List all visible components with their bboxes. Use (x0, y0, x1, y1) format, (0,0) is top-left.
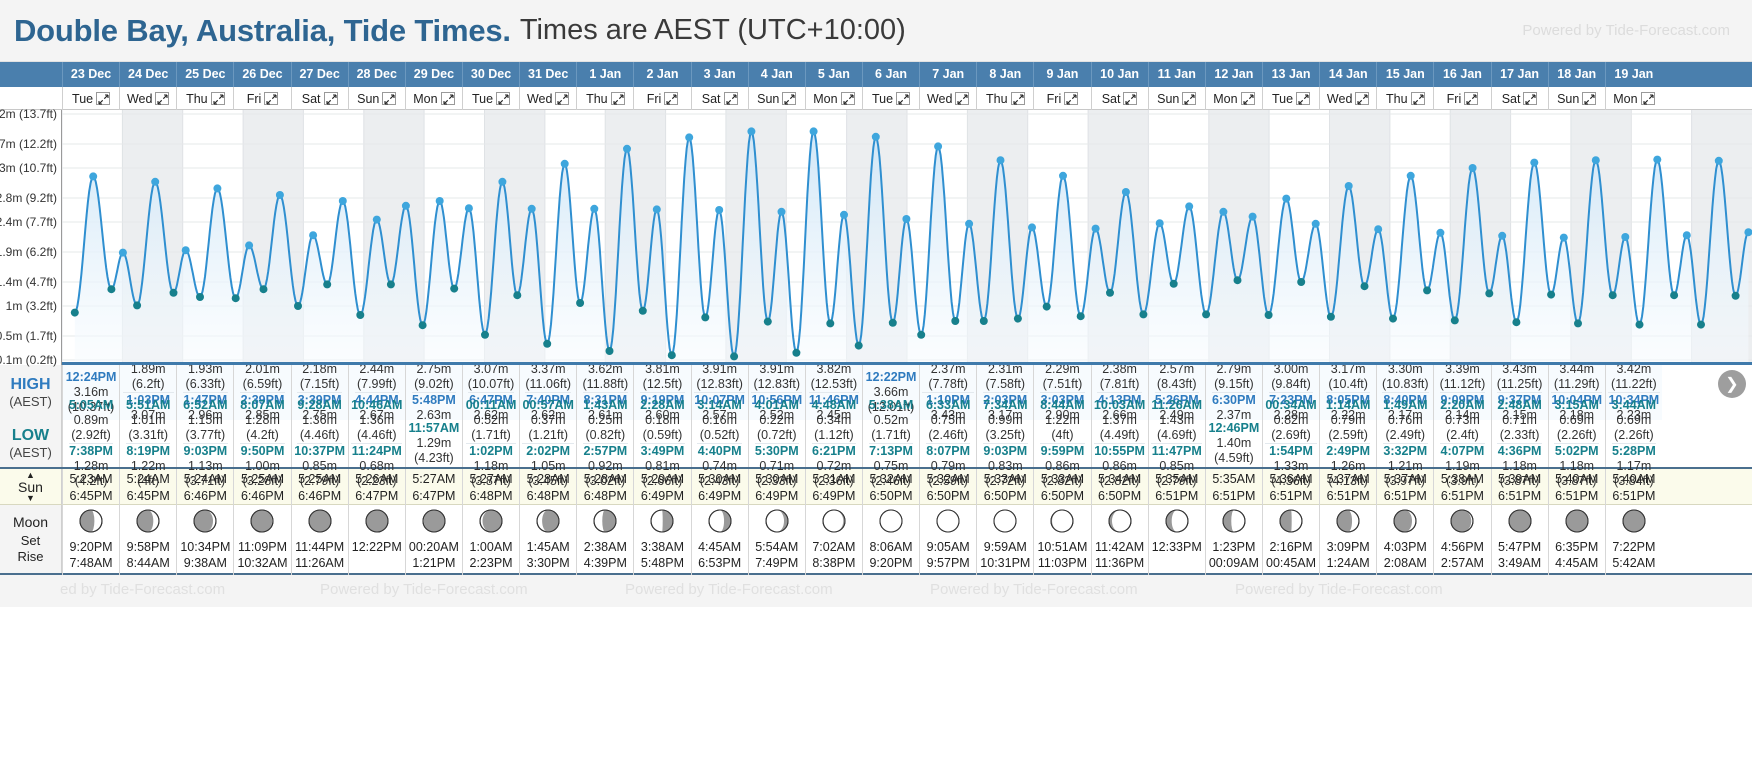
tide-time: 3:32PM (1383, 444, 1427, 459)
weekday-label: Mon (413, 92, 437, 106)
moon-phase-icon (136, 509, 160, 539)
low-tide-entry: 1:43AM0.25m(0.82ft) (583, 398, 627, 444)
moonrise-time: 2:08AM (1384, 555, 1427, 571)
low-tide-entry: 7:34AM0.99m(3.25ft) (983, 398, 1027, 444)
tide-time: 2:02PM (526, 444, 570, 459)
sun-cell: 5:25AM6:46PM (233, 469, 290, 507)
tide-height-metres: 1.36m (297, 413, 341, 428)
footer-watermark: ed by Tide-Forecast.com (60, 581, 225, 598)
low-tide-cell: 2:20AM0.73m(2.4ft)4:07PM1.19m(3.9ft) (1433, 420, 1490, 467)
tide-height-feet: (2.26ft) (1612, 428, 1656, 443)
sunrise-time: 5:33AM (984, 471, 1027, 488)
tide-time: 5:28PM (1612, 444, 1656, 459)
tide-height-feet: (2.46ft) (926, 428, 970, 443)
moon-phase-icon (1565, 509, 1589, 539)
moon-cell: 1:00AM2:23PM (462, 505, 519, 575)
expand-arrows-icon[interactable] (155, 92, 169, 105)
tide-height-feet: (2.33ft) (1497, 428, 1541, 443)
date-header-17-jan[interactable]: 17 Jan (1491, 62, 1548, 87)
date-header-10-jan[interactable]: 10 Jan (1091, 62, 1148, 87)
tide-height-metres: 1.22m (1040, 413, 1084, 428)
date-header-31-dec[interactable]: 31 Dec (519, 62, 576, 87)
date-header-4-jan[interactable]: 4 Jan (748, 62, 805, 87)
low-tide-entry: 8:07AM1.28m(4.2ft) (240, 398, 284, 444)
tide-height-feet: (8.43ft) (1155, 377, 1199, 392)
date-header-26-dec[interactable]: 26 Dec (233, 62, 290, 87)
date-header-16-jan[interactable]: 16 Jan (1433, 62, 1490, 87)
moon-rise-label: Rise (17, 549, 43, 565)
sun-cell: 5:29AM6:49PM (633, 469, 690, 507)
moonrise-time: 2:57AM (1441, 555, 1484, 571)
sun-label-text: Sun (18, 480, 43, 494)
tide-height-metres: 0.99m (983, 413, 1027, 428)
tide-height-feet: (6.59ft) (240, 377, 284, 392)
moonset-time: 12:33PM (1152, 539, 1202, 555)
weekday-cell: Tue (62, 87, 119, 110)
tide-height-feet: (1.21ft) (522, 428, 573, 443)
weekday-cells: TueWedThuFriSatSunMonTueWedThuFriSatSunM… (62, 87, 1752, 109)
tide-time: 10:55PM (1094, 444, 1145, 459)
sunrise-time: 5:34AM (1098, 471, 1141, 488)
low-tide-cell: 1:14AM0.79m(2.59ft)2:49PM1.26m(4.13ft) (1319, 420, 1376, 467)
low-tide-label-text: LOW (12, 427, 49, 445)
tide-time: 5:02PM (1555, 444, 1599, 459)
tide-time: 4:36PM (1498, 444, 1542, 459)
tide-time: 8:44AM (1040, 398, 1084, 413)
date-header-15-jan[interactable]: 15 Jan (1376, 62, 1433, 87)
tide-height-metres: 0.52m (869, 413, 913, 428)
tide-height-feet: (7.81ft) (1097, 377, 1141, 392)
tide-height-feet: (2.59ft) (1326, 428, 1370, 443)
weekday-cell: Thu (1376, 87, 1433, 110)
low-tide-cell: 11:26AM1.43m(4.69ft)11:47PM0.85m(2.79ft) (1148, 420, 1205, 467)
expand-arrows-icon[interactable] (1355, 92, 1369, 105)
moon-cell: 12:33PM (1148, 505, 1205, 575)
moonrise-time: 3:30PM (527, 555, 570, 571)
moon-cell: 3:38AM5:48PM (633, 505, 690, 575)
date-header-3-jan[interactable]: 3 Jan (691, 62, 748, 87)
moonrise-time: 2:23PM (470, 555, 513, 571)
moonset-time: 9:58PM (127, 539, 170, 555)
tide-time: 4:40PM (698, 444, 742, 459)
expand-arrows-icon[interactable] (555, 92, 569, 105)
expand-arrows-icon[interactable] (1411, 92, 1425, 105)
sunset-time: 6:49PM (698, 488, 741, 505)
expand-arrows-icon[interactable] (611, 92, 625, 105)
tide-time: 2:48AM (1497, 398, 1541, 413)
moon-phase-icon (1279, 509, 1303, 539)
date-header-1-jan[interactable]: 1 Jan (576, 62, 633, 87)
moonset-time: 2:16PM (1269, 539, 1312, 555)
expand-arrows-icon[interactable] (1241, 92, 1255, 105)
moon-cell: 9:59AM10:31PM (976, 505, 1033, 575)
expand-arrows-icon[interactable] (1464, 92, 1478, 105)
moon-cell: 3:09PM1:24AM (1319, 505, 1376, 575)
tide-height-feet: (7.58ft) (983, 377, 1027, 392)
moonset-time: 5:54AM (755, 539, 798, 555)
sunrise-time: 5:31AM (812, 471, 855, 488)
date-header-8-jan[interactable]: 8 Jan (976, 62, 1033, 87)
powered-by-watermark: Powered by Tide-Forecast.com (1522, 22, 1730, 39)
date-header-11-jan[interactable]: 11 Jan (1148, 62, 1205, 87)
weekday-cell: Tue (1262, 87, 1319, 110)
low-tide-entry: 2:48AM0.71m(2.33ft) (1497, 398, 1541, 444)
moon-phase-icon (79, 509, 103, 539)
moon-cell: 9:58PM8:44AM (119, 505, 176, 575)
tide-time: 4:48AM (812, 398, 856, 413)
tide-time: 1:02PM (469, 444, 513, 459)
sunset-time: 6:48PM (527, 488, 570, 505)
tide-height-feet: (4.46ft) (351, 428, 402, 443)
moonset-time: 8:06AM (869, 539, 912, 555)
expand-arrows-icon[interactable] (324, 92, 338, 105)
sunrise-time: 5:33AM (1041, 471, 1084, 488)
weekday-cell: Sun (1148, 87, 1205, 110)
low-tide-cell: 4:48AM0.34m(1.12ft)6:21PM0.72m(2.36ft) (805, 420, 862, 467)
low-tide-entry: 1:49AM0.76m(2.49ft) (1383, 398, 1427, 444)
tide-height-feet: (1.71ft) (466, 428, 517, 443)
low-tide-cell: 5:05AM0.89m(2.92ft)7:38PM1.28m(4.2ft) (62, 420, 119, 467)
moon-cell: 10:51AM11:03PM (1033, 505, 1090, 575)
footer-watermark: Powered by Tide-Forecast.com (930, 581, 1138, 598)
tide-time: 00:57AM (522, 398, 573, 413)
moon-cell: 4:45AM6:53PM (691, 505, 748, 575)
expand-arrows-icon[interactable] (96, 92, 110, 105)
expand-arrows-icon[interactable] (382, 92, 396, 105)
low-tide-cell: 00:11AM0.52m(1.71ft)1:02PM1.18m(3.87ft) (462, 420, 519, 467)
weekday-cell: Fri (1433, 87, 1490, 110)
low-tide-entry: 11:57AM1.29m(4.23ft) (409, 421, 460, 466)
expand-arrows-icon[interactable] (1296, 92, 1310, 105)
tide-height-metres: 0.52m (466, 413, 517, 428)
date-header-9-jan[interactable]: 9 Jan (1033, 62, 1090, 87)
y-axis-tick: 1.4m (4.7ft) (0, 275, 57, 289)
expand-arrows-icon[interactable] (1523, 92, 1537, 105)
tide-time: 11:26AM (1151, 398, 1202, 413)
tide-height-metres: 0.18m (640, 413, 684, 428)
moon-phase-icon (193, 509, 217, 539)
weekday-cell: Mon (405, 87, 462, 110)
sunrise-time: 5:28AM (584, 471, 627, 488)
moon-cell: 1:45AM3:30PM (519, 505, 576, 575)
low-tide-cell: 11:57AM1.29m(4.23ft) (405, 420, 462, 467)
date-header-14-jan[interactable]: 14 Jan (1319, 62, 1376, 87)
sun-cell: 5:33AM6:50PM (976, 469, 1033, 507)
tide-height-metres: 0.16m (697, 413, 741, 428)
tide-time: 2:49PM (1326, 444, 1370, 459)
tide-height-metres: 0.76m (1383, 413, 1427, 428)
moonset-time: 10:34PM (180, 539, 230, 555)
weekday-label: Sat (702, 92, 721, 106)
tide-time: 3:14AM (697, 398, 741, 413)
moon-cell: 7:02AM8:38PM (805, 505, 862, 575)
moonrise-time: 10:31PM (980, 555, 1030, 571)
sunset-time: 6:50PM (1098, 488, 1141, 505)
tide-time: 1:49AM (1383, 398, 1427, 413)
sunset-time: 6:47PM (355, 488, 398, 505)
moonset-time: 11:44PM (295, 539, 344, 555)
low-tide-entry: 11:26AM1.43m(4.69ft) (1151, 398, 1202, 444)
moon-cell: 6:35PM4:45AM (1548, 505, 1605, 575)
tide-time: 6:33AM (926, 398, 970, 413)
moonset-time: 4:45AM (698, 539, 741, 555)
expand-arrows-icon[interactable] (724, 92, 738, 105)
low-tide-section: LOW (AEST) 5:05AM0.89m(2.92ft)7:38PM1.28… (0, 420, 1752, 467)
moonset-time: 3:09PM (1327, 539, 1370, 555)
expand-arrows-icon[interactable] (1064, 92, 1078, 105)
sunset-time: 6:50PM (984, 488, 1027, 505)
low-tide-cell: 00:34AM0.82m(2.69ft)1:54PM1.33m(4.36ft) (1262, 420, 1319, 467)
sun-cell: 5:24AM6:46PM (176, 469, 233, 507)
tide-time: 3:49PM (641, 444, 685, 459)
tide-height-metres: 0.75m (926, 413, 970, 428)
moon-phase-icon (593, 509, 617, 539)
sunset-time: 6:51PM (1212, 488, 1255, 505)
moon-phase-icon (765, 509, 789, 539)
expand-arrows-icon[interactable] (264, 92, 278, 105)
moon-cell: 11:09PM10:32AM (233, 505, 290, 575)
expand-arrows-icon[interactable] (496, 92, 510, 105)
tide-height-metres: 1.36m (351, 413, 402, 428)
date-header-28-dec[interactable]: 28 Dec (348, 62, 405, 87)
moonrise-time: 9:38AM (184, 555, 227, 571)
footer-watermark: Powered by Tide-Forecast.com (320, 581, 528, 598)
tide-height-feet: (4.49ft) (1094, 428, 1145, 443)
date-header-7-jan[interactable]: 7 Jan (919, 62, 976, 87)
expand-arrows-icon[interactable] (1182, 92, 1196, 105)
sunset-time: 6:46PM (241, 488, 284, 505)
sun-cell: 5:23AM6:45PM (62, 469, 119, 507)
date-header-12-jan[interactable]: 12 Jan (1205, 62, 1262, 87)
weekday-label: Wed (127, 92, 152, 106)
tide-time: 12:46PM (1209, 421, 1260, 436)
page-title: Double Bay, Australia, Tide Times. (14, 13, 511, 49)
expand-arrows-icon[interactable] (664, 92, 678, 105)
moon-cell: 8:06AM9:20PM (862, 505, 919, 575)
sun-cell: 5:36AM6:51PM (1262, 469, 1319, 507)
date-header-25-dec[interactable]: 25 Dec (176, 62, 233, 87)
weekday-label: Mon (1213, 92, 1237, 106)
date-header-29-dec[interactable]: 29 Dec (405, 62, 462, 87)
low-tide-entry: 5:05AM0.89m(2.92ft) (69, 398, 113, 444)
moon-cell: 5:54AM7:49PM (748, 505, 805, 575)
moon-cell: 1:23PM00:09AM (1205, 505, 1262, 575)
moonrise-time: 4:39PM (584, 555, 627, 571)
expand-arrows-icon[interactable] (896, 92, 910, 105)
low-tide-label: LOW (AEST) (0, 420, 62, 467)
moon-phase-icon (250, 509, 274, 539)
weekday-cell: Wed (519, 87, 576, 110)
moon-phase-icon (1165, 509, 1189, 539)
weekday-cell: Sat (691, 87, 748, 110)
weekday-label: Mon (813, 92, 837, 106)
moon-cell: 11:44PM11:26AM (291, 505, 348, 575)
tide-time: 10:37PM (294, 444, 345, 459)
sunrise-time: 5:37AM (1384, 471, 1427, 488)
tide-time: 12:24PM (66, 370, 117, 385)
sun-cell: 5:40AM6:51PM (1548, 469, 1605, 507)
moon-phase-icon (1393, 509, 1417, 539)
tide-height-feet: (11.25ft) (1497, 377, 1543, 392)
expand-arrows-icon[interactable] (211, 92, 225, 105)
moon-cell: 4:56PM2:57AM (1433, 505, 1490, 575)
moonrise-time: 9:20PM (869, 555, 912, 571)
date-header-5-jan[interactable]: 5 Jan (805, 62, 862, 87)
tide-height-metres: 1.01m (126, 413, 170, 428)
sunset-time: 6:49PM (755, 488, 798, 505)
sun-row: ▲ Sun ▼ 5:23AM6:45PM5:24AM6:45PM5:24AM6:… (0, 467, 1752, 505)
sunset-time: 6:46PM (184, 488, 227, 505)
sunrise-time: 5:27AM (470, 471, 513, 488)
date-header-18-jan[interactable]: 18 Jan (1548, 62, 1605, 87)
weekday-cell: Thu (176, 87, 233, 110)
moonset-time: 3:38AM (641, 539, 684, 555)
sun-cell: 5:35AM6:51PM (1205, 469, 1262, 507)
expand-arrows-icon[interactable] (1641, 92, 1655, 105)
tide-height-feet: (9.84ft) (1269, 377, 1313, 392)
moon-row: Moon Set Rise 9:20PM7:48AM9:58PM8:44AM10… (0, 505, 1752, 575)
low-tide-entry: 1:14AM0.79m(2.59ft) (1326, 398, 1370, 444)
moon-phase-icon (1450, 509, 1474, 539)
sunset-time: 6:45PM (127, 488, 170, 505)
sun-cell: 5:31AM6:49PM (805, 469, 862, 507)
moonset-time: 9:05AM (927, 539, 970, 555)
tide-height-metres: 1.37m (1094, 413, 1145, 428)
sunrise-time: 5:24AM (127, 471, 170, 488)
sun-cell: 5:25AM6:46PM (291, 469, 348, 507)
date-header-30-dec[interactable]: 30 Dec (462, 62, 519, 87)
low-tide-cell: 9:28AM1.36m(4.46ft)10:37PM0.85m(2.79ft) (291, 420, 348, 467)
sun-cell: 5:32AM6:50PM (862, 469, 919, 507)
expand-arrows-icon[interactable] (1123, 92, 1137, 105)
weekday-label: Sun (357, 92, 379, 106)
next-page-button[interactable]: ❯ (1718, 370, 1746, 398)
date-header-27-dec[interactable]: 27 Dec (291, 62, 348, 87)
tide-height-metres: 1.43m (1151, 413, 1202, 428)
tide-height-feet: (0.59ft) (640, 428, 684, 443)
low-tide-entry: 8:44AM1.22m(4ft) (1040, 398, 1084, 444)
low-tide-cell: 5:51AM1.01m(3.31ft)8:19PM1.22m(4ft) (119, 420, 176, 467)
date-header-19-jan[interactable]: 19 Jan (1605, 62, 1662, 87)
expand-arrows-icon[interactable] (782, 92, 796, 105)
weekday-header-row: TueWedThuFriSatSunMonTueWedThuFriSatSunM… (0, 87, 1752, 110)
tide-height-feet: (7.78ft) (922, 377, 973, 392)
weekday-label: Wed (527, 92, 552, 106)
low-tide-cell: 5:38AM0.52m(1.71ft)7:13PM0.75m(2.46ft) (862, 420, 919, 467)
low-tide-cell: 12:46PM1.40m(4.59ft) (1205, 420, 1262, 467)
moonset-time: 7:22PM (1612, 539, 1655, 555)
weekday-label: Fri (247, 92, 262, 106)
weekday-cell: Sat (291, 87, 348, 110)
page-subtitle: Times are AEST (UTC+10:00) (520, 14, 906, 47)
tide-height-feet: (12.53ft) (809, 377, 860, 392)
low-tide-entry: 3:14AM0.16m(0.52ft) (697, 398, 741, 444)
tide-time: 4:01AM (755, 398, 799, 413)
date-header-24-dec[interactable]: 24 Dec (119, 62, 176, 87)
date-header-13-jan[interactable]: 13 Jan (1262, 62, 1319, 87)
date-header-2-jan[interactable]: 2 Jan (633, 62, 690, 87)
sun-cell: 5:30AM6:49PM (691, 469, 748, 507)
sun-cells: 5:23AM6:45PM5:24AM6:45PM5:24AM6:46PM5:25… (62, 469, 1752, 504)
tide-height-feet: (4.2ft) (240, 428, 284, 443)
tide-height-feet: (9.02ft) (412, 377, 456, 392)
sunrise-time: 5:29AM (641, 471, 684, 488)
expand-arrows-icon[interactable] (1582, 92, 1596, 105)
sunrise-time: 5:38AM (1441, 471, 1484, 488)
tide-time: 1:54PM (1269, 444, 1313, 459)
expand-arrows-icon[interactable] (955, 92, 969, 105)
moonrise-time: 10:32AM (237, 555, 287, 571)
tide-height-feet: (2.92ft) (69, 428, 113, 443)
weekday-label: Sun (757, 92, 779, 106)
tide-time: 9:03PM (983, 444, 1027, 459)
tide-time: 7:13PM (869, 444, 913, 459)
moonset-time: 10:51AM (1037, 539, 1087, 555)
expand-arrows-icon[interactable] (1011, 92, 1025, 105)
low-tide-cell: 6:52AM1.15m(3.77ft)9:03PM1.13m(3.71ft) (176, 420, 233, 467)
moonrise-time: 12:22PM (352, 539, 402, 555)
tide-time: 7:34AM (983, 398, 1027, 413)
weekday-label: Fri (1047, 92, 1062, 106)
tide-plot-area (62, 110, 1752, 365)
sunset-time: 6:50PM (869, 488, 912, 505)
tide-height-feet: (1.12ft) (812, 428, 856, 443)
tide-time: 1:14AM (1326, 398, 1370, 413)
moonrise-time: 9:57PM (927, 555, 970, 571)
tide-height-metres: 0.82m (1265, 413, 1316, 428)
date-header-6-jan[interactable]: 6 Jan (862, 62, 919, 87)
low-tide-cell: 8:44AM1.22m(4ft)9:59PM0.86m(2.82ft) (1033, 420, 1090, 467)
sunset-time: 6:50PM (1041, 488, 1084, 505)
weekday-cell: Thu (576, 87, 633, 110)
moonrise-time: 1:21PM (412, 555, 455, 571)
moonset-time: 2:38AM (584, 539, 627, 555)
tide-height-feet: (2.26ft) (1554, 428, 1598, 443)
date-header-23-dec[interactable]: 23 Dec (62, 62, 119, 87)
y-axis-tick: 2.8m (9.2ft) (0, 191, 57, 205)
moon-cell: 7:22PM5:42AM (1605, 505, 1662, 575)
weekday-cell: Tue (862, 87, 919, 110)
moon-phase-icon (822, 509, 846, 539)
tide-time: 6:21PM (812, 444, 856, 459)
tide-time: 00:11AM (466, 398, 517, 413)
sun-cell: 5:24AM6:45PM (119, 469, 176, 507)
sunset-time: 6:51PM (1441, 488, 1484, 505)
low-tide-entry: 5:38AM0.52m(1.71ft) (869, 398, 913, 444)
weekday-label: Fri (1447, 92, 1462, 106)
expand-arrows-icon[interactable] (441, 92, 455, 105)
weekday-cell: Sun (748, 87, 805, 110)
expand-arrows-icon[interactable] (841, 92, 855, 105)
weekday-label: Sat (1502, 92, 1521, 106)
sunset-time: 6:51PM (1155, 488, 1198, 505)
low-tide-cell: 3:15AM0.69m(2.26ft)5:02PM1.18m(3.87ft) (1548, 420, 1605, 467)
low-tide-cell: 1:43AM0.25m(0.82ft)2:57PM0.92m(3.02ft) (576, 420, 633, 467)
tide-height-feet: (12.83ft) (694, 377, 745, 392)
weekday-label: Sun (1157, 92, 1179, 106)
date-cells: 23 Dec24 Dec25 Dec26 Dec27 Dec28 Dec29 D… (62, 62, 1752, 87)
moon-phase-icon (365, 509, 389, 539)
low-tide-cell: 1:49AM0.76m(2.49ft)3:32PM1.21m(3.97ft) (1376, 420, 1433, 467)
tide-height-feet: (3.77ft) (183, 428, 227, 443)
tide-height-feet: (0.82ft) (583, 428, 627, 443)
moon-phase-icon (308, 509, 332, 539)
sunrise-time: 5:39AM (1498, 471, 1541, 488)
low-tide-entry: 2:28AM0.18m(0.59ft) (640, 398, 684, 444)
moonset-time: 1:45AM (527, 539, 570, 555)
low-tide-cell: 8:07AM1.28m(4.2ft)9:50PM1.00m(3.28ft) (233, 420, 290, 467)
tide-time: 5:38AM (869, 398, 913, 413)
